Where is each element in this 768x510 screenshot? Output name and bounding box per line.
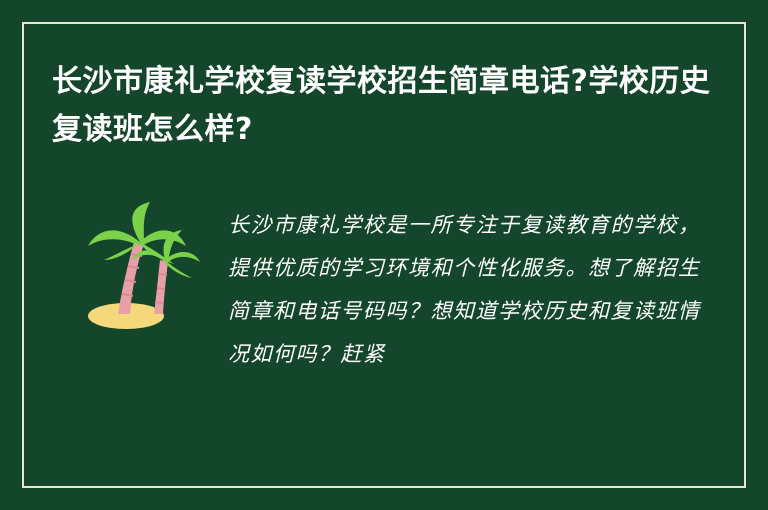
article-card: 长沙市康礼学校复读学校招生简章电话?学校历史复读班怎么样? xyxy=(0,0,768,510)
content-area: 长沙市康礼学校是一所专注于复读教育的学校，提供优质的学习环境和个性化服务。想了解… xyxy=(52,196,724,476)
palm-tree-island-icon xyxy=(74,202,214,332)
article-body-text: 长沙市康礼学校是一所专注于复读教育的学校，提供优质的学习环境和个性化服务。想了解… xyxy=(228,204,708,376)
page-title: 长沙市康礼学校复读学校招生简章电话?学校历史复读班怎么样? xyxy=(52,58,724,154)
